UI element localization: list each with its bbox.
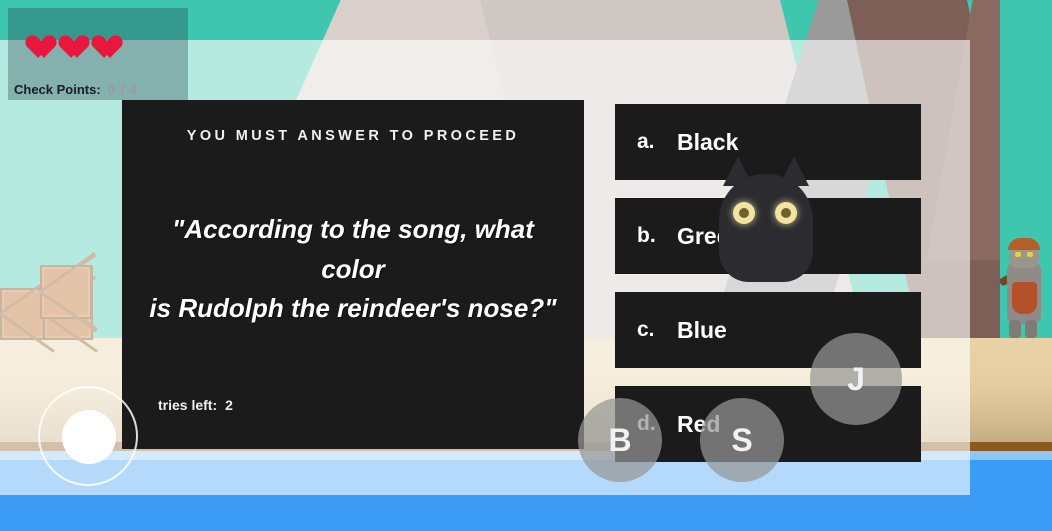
question-text: "According to the song, what color is Ru… [140, 210, 566, 329]
answer-option-b-key: b. [615, 224, 677, 248]
checkpoints-label: Check Points: [14, 82, 101, 97]
orc-hair [1008, 238, 1040, 250]
checkpoints-value: 0 / 4 [108, 82, 138, 97]
answer-option-c-key: c. [615, 318, 677, 342]
enemy-creature-sprite [705, 148, 827, 283]
action-button-b[interactable]: B [578, 398, 662, 482]
checkpoints-readout: Check Points:0 / 4 [14, 82, 138, 97]
crate-block [40, 265, 92, 319]
question-panel: YOU MUST ANSWER TO PROCEED "According to… [122, 100, 584, 449]
orc-vest [1012, 282, 1037, 314]
game-screen: Check Points:0 / 4 YOU MUST ANSWER TO PR… [0, 0, 1052, 531]
heart-icon [22, 26, 48, 50]
tries-left-label: tries left: [158, 397, 217, 413]
question-panel-header: YOU MUST ANSWER TO PROCEED [122, 128, 584, 144]
creature-pupil-right [781, 208, 791, 218]
action-button-s[interactable]: S [700, 398, 784, 482]
virtual-joystick[interactable] [38, 386, 138, 486]
joystick-knob[interactable] [62, 410, 116, 464]
heart-icon [88, 26, 114, 50]
orc-leg-left [1009, 320, 1021, 338]
action-button-j[interactable]: J [810, 333, 902, 425]
answer-option-a-key: a. [615, 130, 677, 154]
question-line-2: is Rudolph the reindeer's nose?" [140, 289, 566, 329]
tries-left-readout: tries left:2 [158, 397, 233, 413]
tries-left-value: 2 [225, 397, 233, 413]
question-line-1: "According to the song, what color [140, 210, 566, 289]
health-hearts [22, 26, 114, 50]
heart-icon [55, 26, 81, 50]
answer-option-c-label: Blue [677, 317, 727, 344]
creature-eye-right [775, 202, 797, 224]
orc-enemy-sprite [999, 228, 1049, 340]
creature-body [719, 174, 813, 282]
orc-eye-right [1027, 252, 1033, 257]
creature-eye-left [733, 202, 755, 224]
orc-leg-right [1025, 320, 1037, 338]
creature-pupil-left [739, 208, 749, 218]
orc-eye-left [1015, 252, 1021, 257]
